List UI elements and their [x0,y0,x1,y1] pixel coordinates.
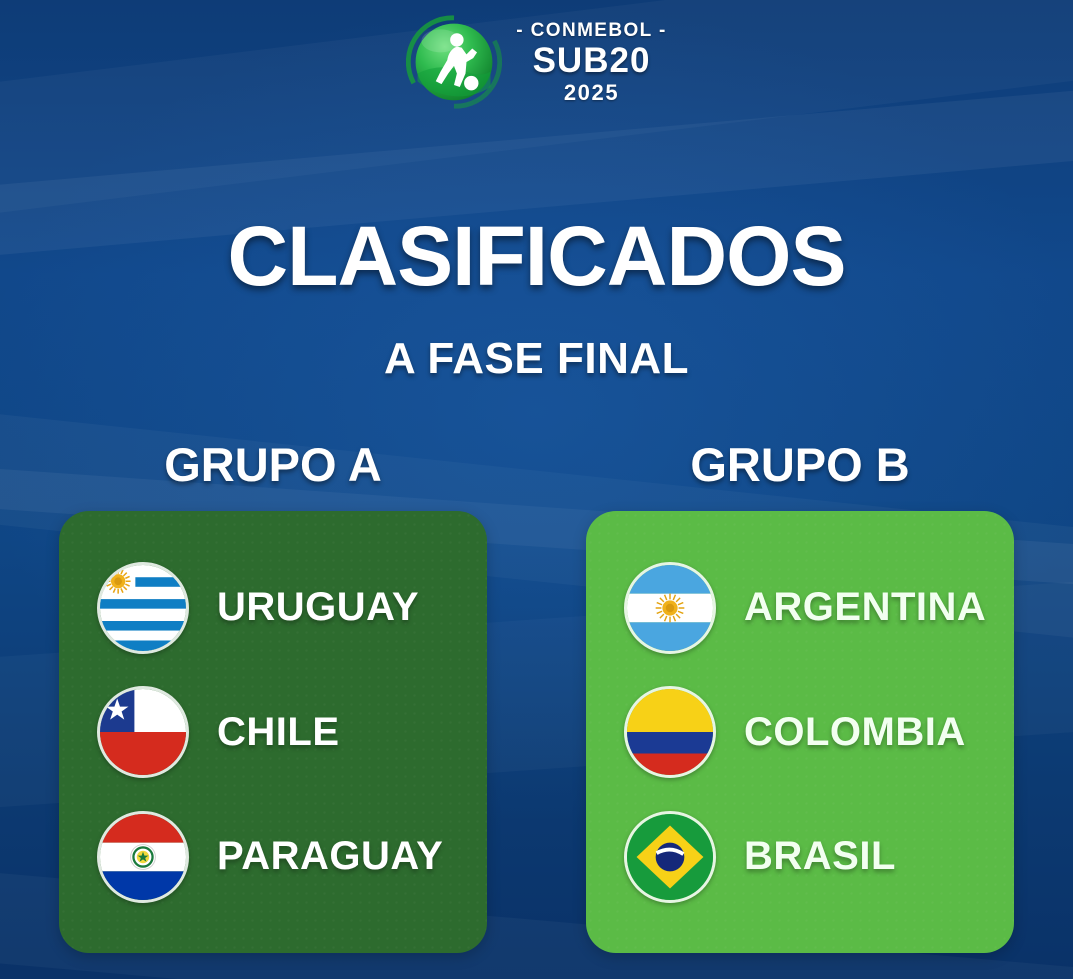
header-logo-block: - CONMEBOL - SUB20 2025 [0,14,1073,110]
group-column-a: GRUPO A [59,437,487,953]
conmebol-label: - CONMEBOL - [516,21,667,40]
team-row-chile[interactable]: CHILE [59,686,487,778]
group-b-card: ARGENTINA COLOMBIA [586,511,1014,953]
team-row-brasil[interactable]: BRASIL [586,811,1014,903]
team-row-colombia[interactable]: COLOMBIA [586,686,1014,778]
team-name: URUGUAY [217,585,419,630]
flag-brasil-icon [624,811,716,903]
title-block: CLASIFICADOS A FASE FINAL [0,214,1073,384]
group-b-heading: GRUPO B [690,437,909,492]
team-name: COLOMBIA [744,710,966,755]
team-row-argentina[interactable]: ARGENTINA [586,562,1014,654]
group-column-b: GRUPO B [586,437,1014,953]
team-name: PARAGUAY [217,834,443,879]
sub20-label: SUB20 [533,43,651,78]
team-row-uruguay[interactable]: URUGUAY [59,562,487,654]
team-name: ARGENTINA [744,585,986,630]
team-row-paraguay[interactable]: PARAGUAY [59,811,487,903]
conmebol-globe-player-icon [406,14,502,110]
group-a-heading: GRUPO A [164,437,382,492]
flag-uruguay-icon [97,562,189,654]
year-label: 2025 [564,82,619,104]
team-name: BRASIL [744,834,896,879]
group-a-card: URUGUAY CHILE [59,511,487,953]
team-name: CHILE [217,710,340,755]
flag-argentina-icon [624,562,716,654]
page-subtitle: A FASE FINAL [0,334,1073,384]
flag-paraguay-icon [97,811,189,903]
groups-container: GRUPO A [0,437,1073,953]
flag-colombia-icon [624,686,716,778]
logo-wordmark: - CONMEBOL - SUB20 2025 [516,21,667,104]
page-title: CLASIFICADOS [0,214,1073,298]
flag-chile-icon [97,686,189,778]
